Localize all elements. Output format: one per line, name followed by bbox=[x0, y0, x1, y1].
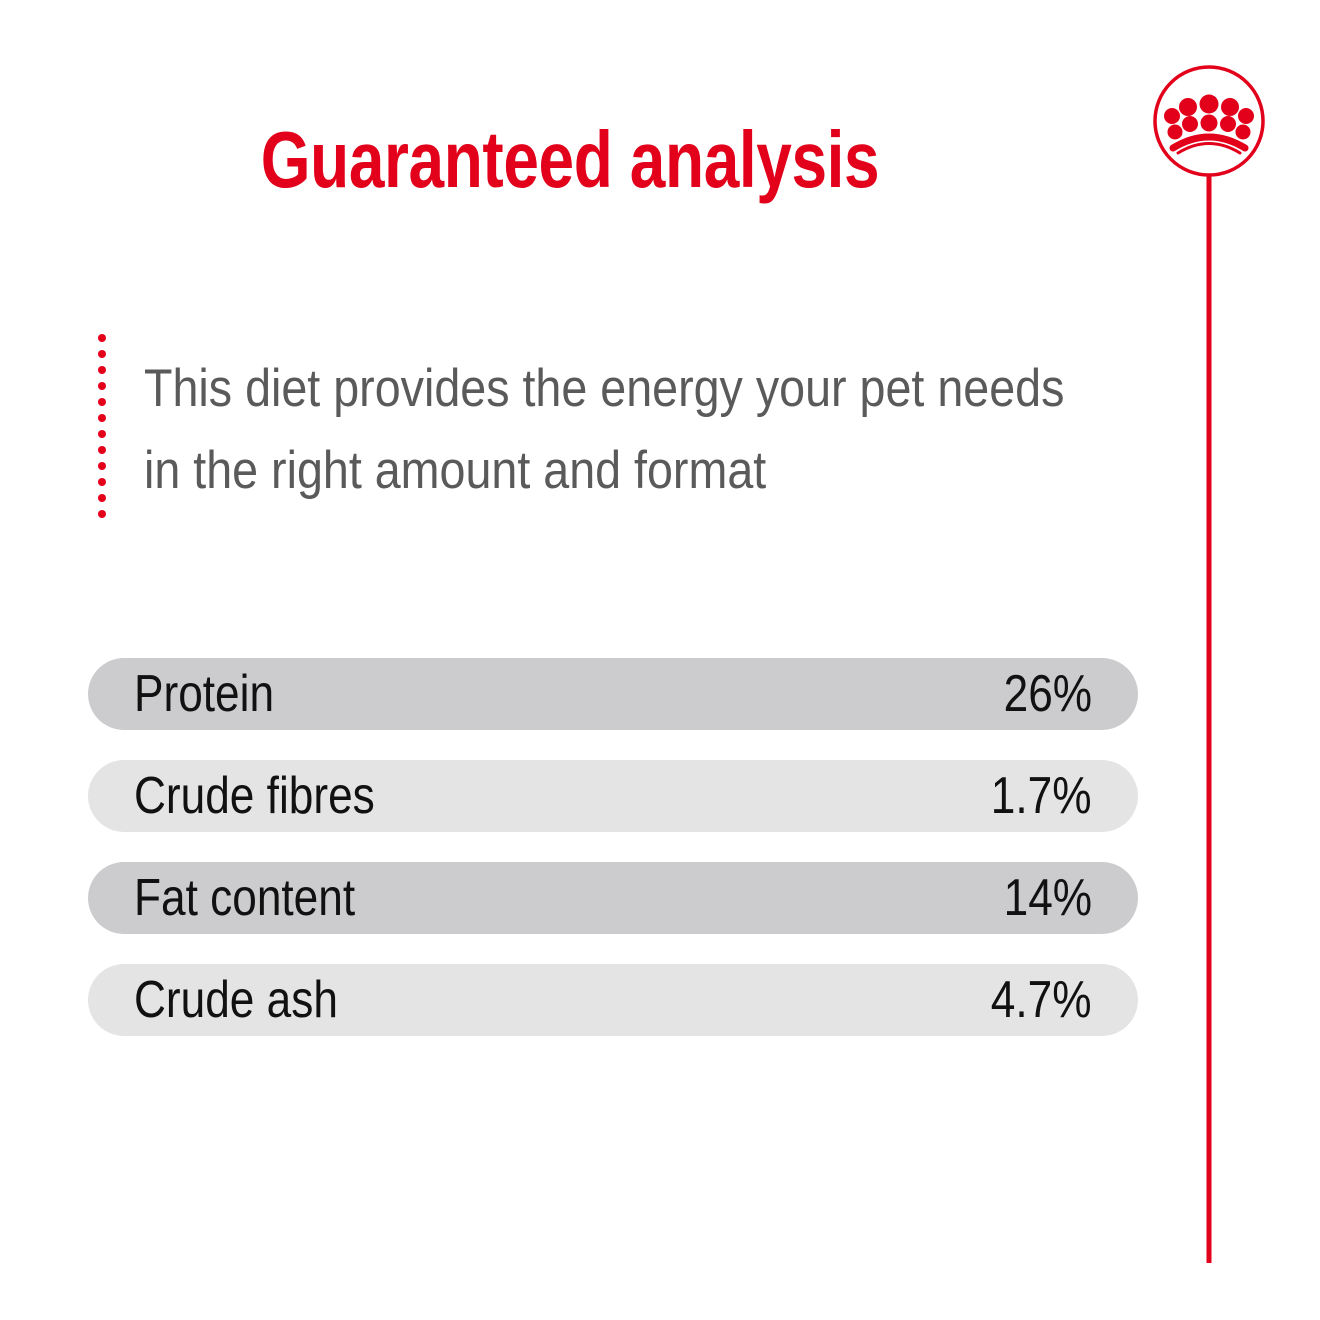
page-title: Guaranteed analysis bbox=[114, 118, 1026, 202]
row-label: Protein bbox=[134, 668, 274, 720]
row-label: Crude fibres bbox=[134, 770, 375, 822]
guaranteed-analysis-page: Guaranteed analysis This diet provides t… bbox=[0, 0, 1320, 1320]
row-value: 14% bbox=[1004, 872, 1092, 924]
intro-line-1: This diet provides the energy your pet n… bbox=[144, 348, 971, 430]
table-row: Crude ash 4.7% bbox=[88, 964, 1138, 1036]
row-value: 26% bbox=[1004, 668, 1092, 720]
intro-line-2: in the right amount and format bbox=[144, 430, 971, 512]
royal-canin-crown-logo bbox=[1152, 64, 1272, 1274]
analysis-table: Protein 26% Crude fibres 1.7% Fat conten… bbox=[88, 658, 1138, 1036]
table-row: Protein 26% bbox=[88, 658, 1138, 730]
intro-block: This diet provides the energy your pet n… bbox=[98, 334, 1088, 524]
row-value: 1.7% bbox=[991, 770, 1092, 822]
row-label: Fat content bbox=[134, 872, 355, 924]
row-label: Crude ash bbox=[134, 974, 338, 1026]
table-row: Crude fibres 1.7% bbox=[88, 760, 1138, 832]
table-row: Fat content 14% bbox=[88, 862, 1138, 934]
intro-text: This diet provides the energy your pet n… bbox=[144, 348, 971, 512]
row-value: 4.7% bbox=[991, 974, 1092, 1026]
red-dotted-rule bbox=[98, 334, 106, 520]
